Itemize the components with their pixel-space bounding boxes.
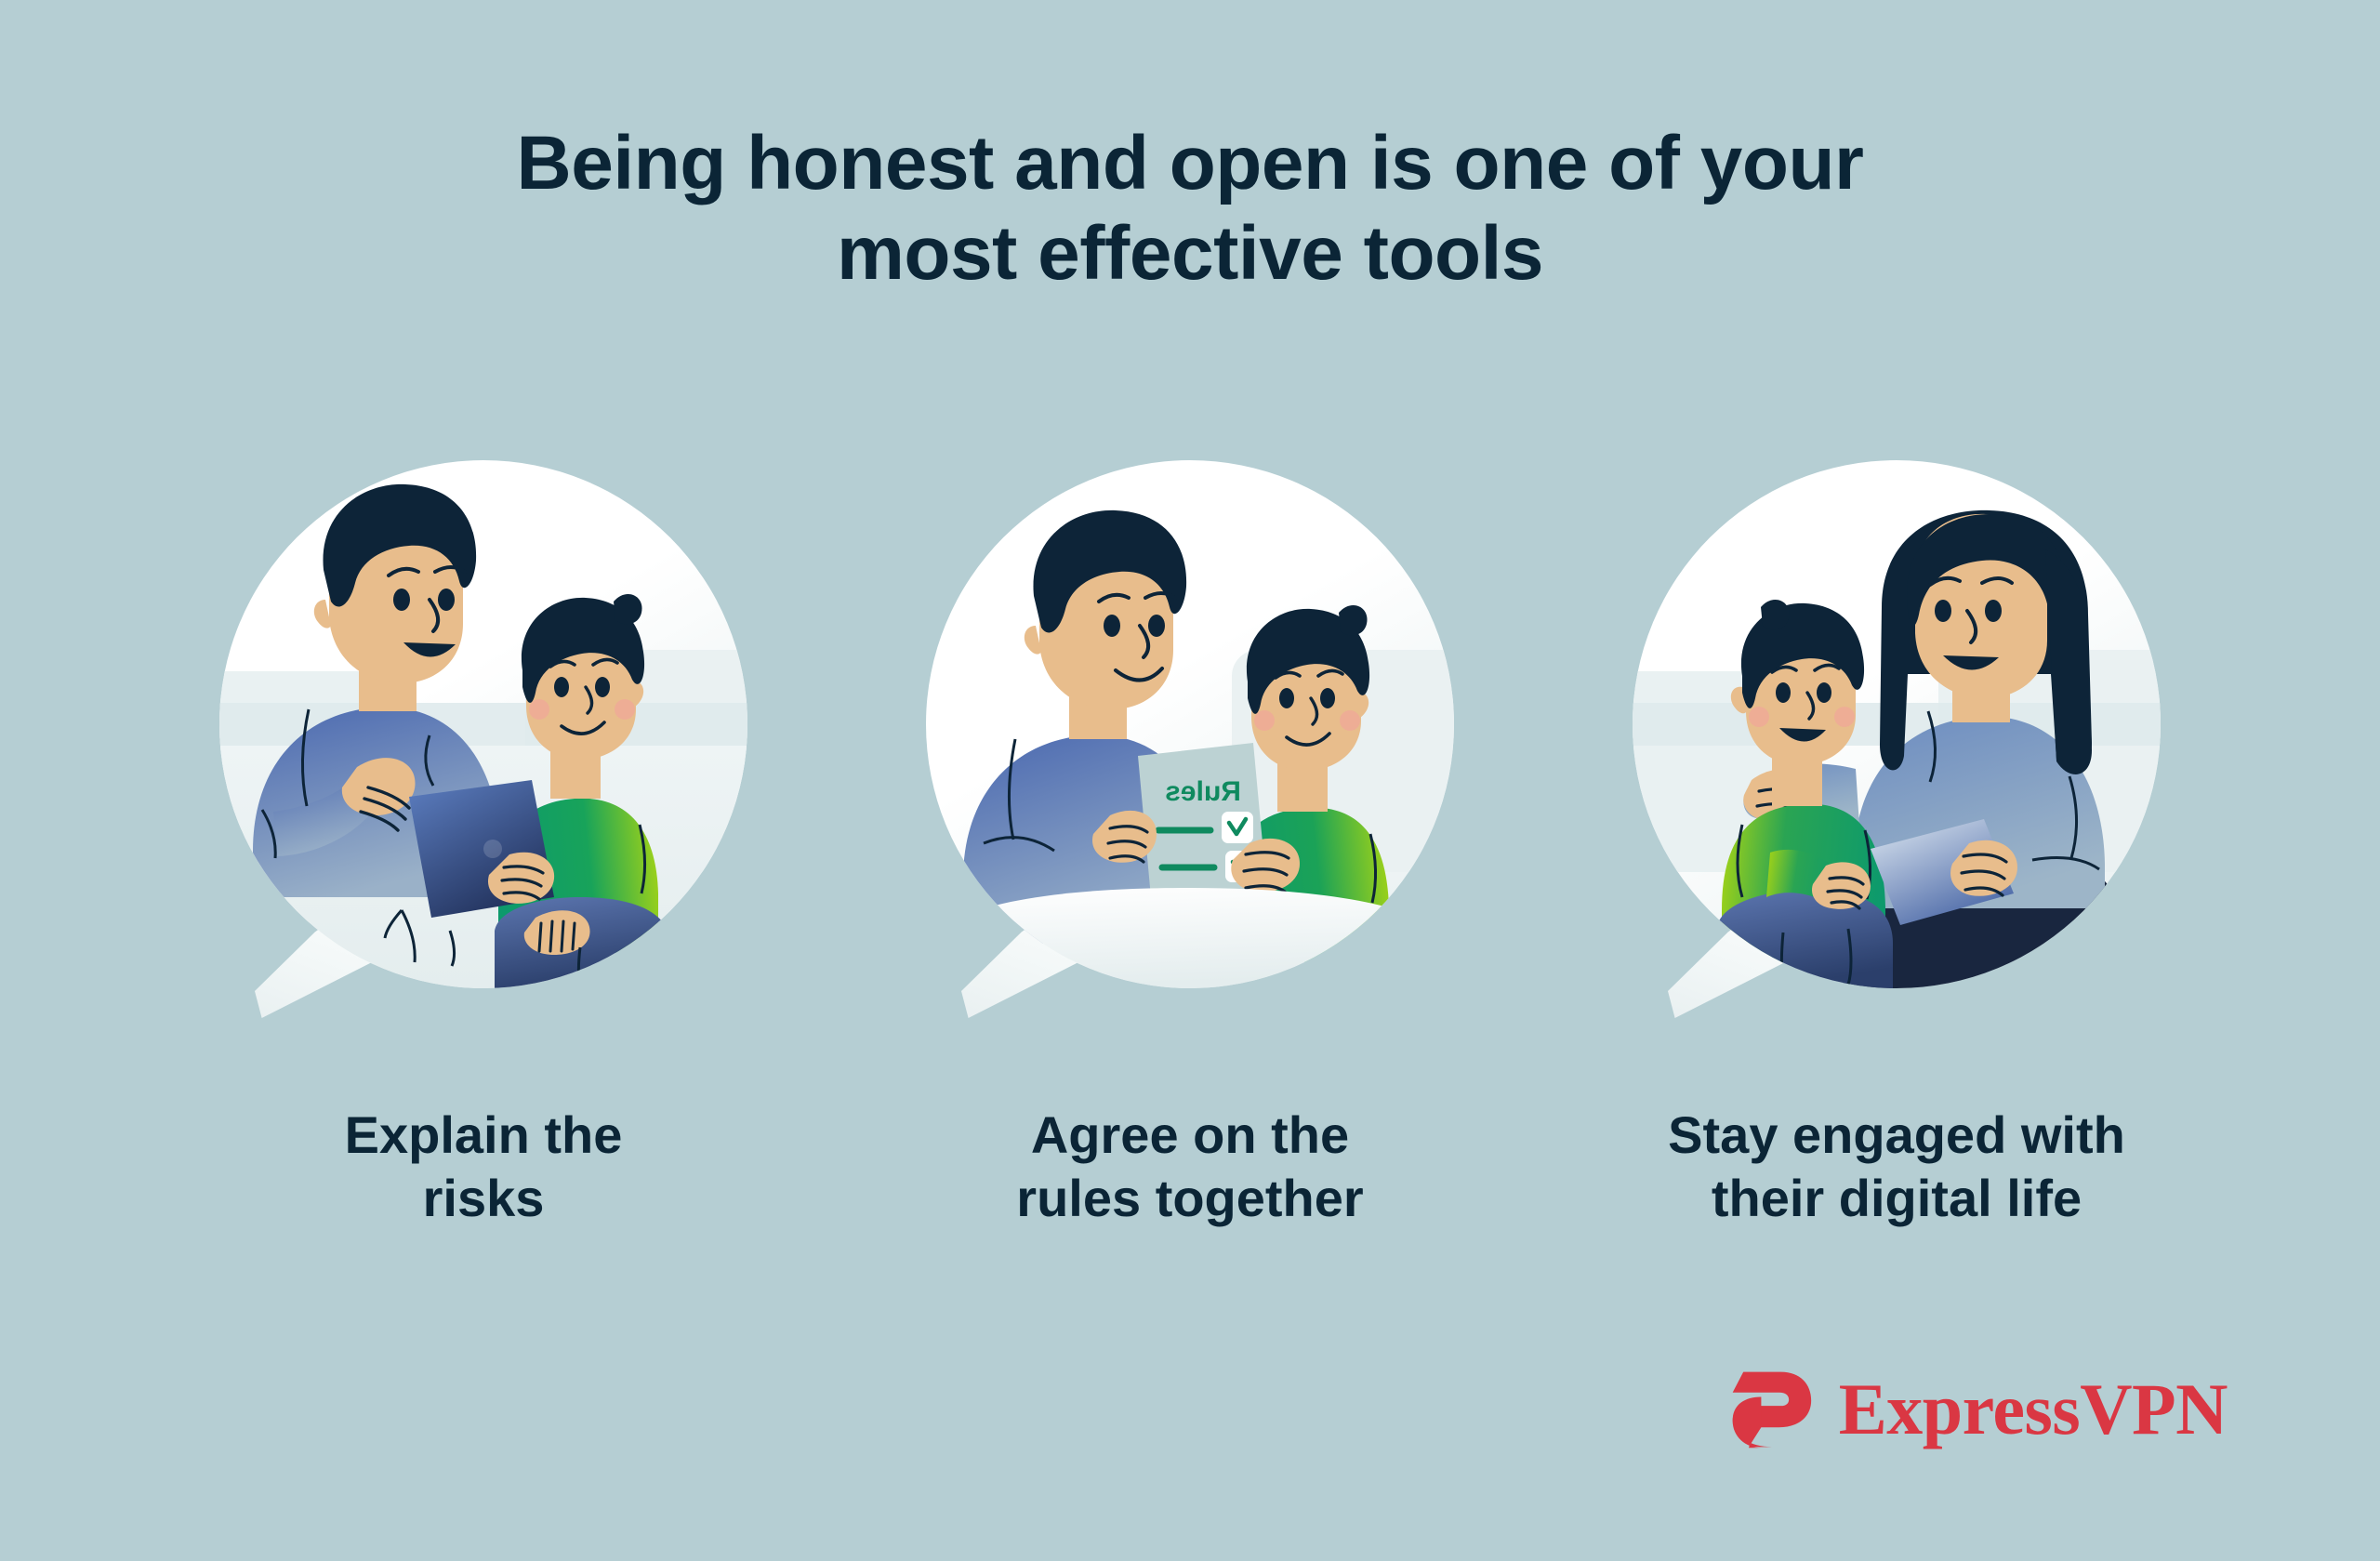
caption-line-2: risks — [423, 1169, 545, 1227]
caption-stay-engaged-with-their-digital-life: Stay engaged with their digital life — [1668, 1104, 2125, 1231]
illustration-parent-showing-tablet — [219, 460, 747, 988]
caption-explain-the-risks: Explain the risks — [345, 1104, 623, 1231]
infographic-canvas: Being honest and open is one of your mos… — [0, 0, 2380, 1561]
caption-line-2: rules together — [1016, 1169, 1363, 1227]
expressvpn-logo[interactable]: ExpressVPN — [1725, 1365, 2228, 1454]
illustration-rules-agreement: Rules — [926, 460, 1454, 988]
caption-line-1: Explain the — [345, 1105, 623, 1164]
speech-bubble-1 — [219, 460, 747, 1018]
speech-bubble-3 — [1633, 460, 2161, 1018]
rules-sheet-title: Rules — [1165, 776, 1241, 807]
caption-line-2: their digital life — [1712, 1169, 2082, 1227]
speech-bubble-circle-2: Rules — [926, 460, 1454, 988]
panel-stay-engaged-with-their-digital-life: Stay engaged with their digital life — [1543, 460, 2250, 1231]
caption-agree-on-the-rules-together: Agree on the rules together — [1016, 1104, 1363, 1231]
caption-line-1: Agree on the — [1031, 1105, 1349, 1164]
expressvpn-wordmark: ExpressVPN — [1839, 1373, 2228, 1446]
title-line-1: Being honest and open is one of your — [0, 119, 2380, 209]
page-title: Being honest and open is one of your mos… — [0, 119, 2380, 299]
panel-row: Explain the risks — [0, 460, 2380, 1241]
panel-explain-the-risks: Explain the risks — [130, 460, 837, 1231]
title-line-2: most effective tools — [0, 209, 2380, 299]
panel-agree-on-the-rules-together: Rules — [837, 460, 1543, 1231]
speech-bubble-2: Rules — [926, 460, 1454, 1018]
speech-bubble-circle-1 — [219, 460, 747, 988]
expressvpn-e-mark-icon — [1725, 1365, 1815, 1454]
illustration-mother-and-child-tablet — [1633, 460, 2161, 988]
caption-line-1: Stay engaged with — [1668, 1105, 2125, 1164]
speech-bubble-circle-3 — [1633, 460, 2161, 988]
